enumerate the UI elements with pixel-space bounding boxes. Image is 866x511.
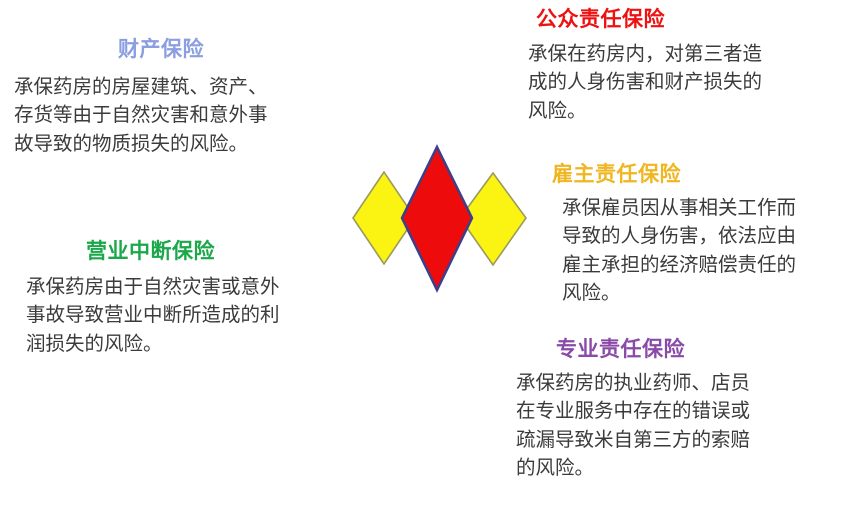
body-employer-liability-insurance: 承保雇员因从事相关工作而 导致的人身伤害，依法应由 雇主承担的经济赔偿责任的 风…	[562, 195, 864, 310]
heading-property-insurance: 财产保险	[118, 38, 334, 62]
red-diamond-center-icon	[402, 147, 472, 290]
slide-canvas: 财产保险 承保药房的房屋建筑、资产、 存货等由于自然灾害和意外事 故导致的物质损…	[0, 0, 866, 511]
body-business-interruption-insurance: 承保药房由于自然灾害或意外 事故导致营业中断所造成的利 润损失的风险。	[26, 274, 356, 360]
heading-business-interruption-insurance: 营业中断保险	[86, 240, 356, 264]
body-public-liability-insurance: 承保在药房内，对第三者造 成的人身伤害和财产损失的 风险。	[528, 41, 858, 127]
heading-employer-liability-insurance: 雇主责任保险	[552, 163, 864, 187]
insurance-block-employer-liability: 雇主责任保险 承保雇员因从事相关工作而 导致的人身伤害，依法应由 雇主承担的经济…	[552, 163, 864, 309]
body-property-insurance: 承保药房的房屋建筑、资产、 存货等由于自然灾害和意外事 故导致的物质损失的风险。	[14, 74, 334, 160]
insurance-block-business-interruption: 营业中断保险 承保药房由于自然灾害或意外 事故导致营业中断所造成的利 润损失的风…	[26, 240, 356, 359]
center-diamond-cluster	[345, 138, 540, 303]
body-professional-liability-insurance: 承保药房的执业药师、店员 在专业服务中存在的错误或 疏漏导致米自第三方的索赔 的…	[516, 370, 861, 485]
insurance-block-property: 财产保险 承保药房的房屋建筑、资产、 存货等由于自然灾害和意外事 故导致的物质损…	[14, 38, 334, 159]
heading-public-liability-insurance: 公众责任保险	[536, 8, 858, 32]
insurance-block-public-liability: 公众责任保险 承保在药房内，对第三者造 成的人身伤害和财产损失的 风险。	[528, 8, 858, 126]
insurance-block-professional-liability: 专业责任保险 承保药房的执业药师、店员 在专业服务中存在的错误或 疏漏导致米自第…	[516, 338, 861, 484]
heading-professional-liability-insurance: 专业责任保险	[556, 338, 861, 362]
